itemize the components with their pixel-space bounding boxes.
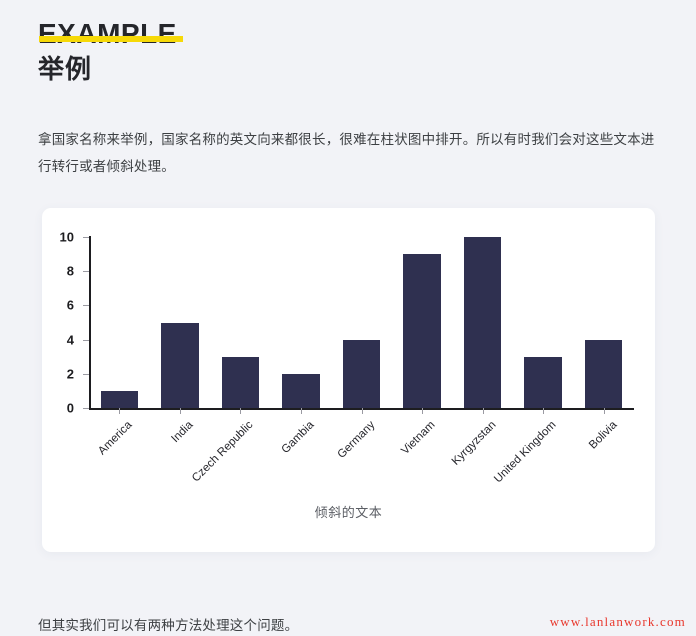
y-axis-tick: 2	[83, 374, 89, 375]
page-header: EXAMPLE 举例	[38, 20, 658, 85]
y-axis-tick: 4	[83, 340, 89, 341]
y-axis-line	[89, 236, 91, 409]
x-axis-tick	[180, 408, 181, 414]
site-watermark: www.lanlanwork.com	[550, 614, 686, 630]
chart-card: 0246810 AmericaIndiaCzech RepublicGambia…	[42, 208, 655, 552]
page-title-en: EXAMPLE	[38, 20, 177, 48]
bar	[464, 237, 502, 408]
bar	[282, 374, 320, 408]
y-axis-tick: 8	[83, 271, 89, 272]
x-axis-tick	[422, 408, 423, 414]
bar	[524, 357, 562, 408]
page-title-cn: 举例	[38, 55, 658, 85]
x-axis-tick	[604, 408, 605, 414]
bar	[343, 340, 381, 408]
intro-paragraph: 拿国家名称来举例，国家名称的英文向来都很长，很难在柱状图中排开。所以有时我们会对…	[38, 126, 660, 180]
bar	[222, 357, 260, 408]
y-axis-tick-label: 4	[67, 332, 74, 347]
y-axis-tick: 10	[83, 237, 89, 238]
y-axis-tick-label: 2	[67, 366, 74, 381]
bar	[101, 391, 139, 408]
x-axis-title: 倾斜的文本	[42, 502, 655, 521]
x-axis-tick	[240, 408, 241, 414]
y-axis-tick-label: 6	[67, 298, 74, 313]
x-axis-tick	[483, 408, 484, 414]
x-axis-tick	[301, 408, 302, 414]
bar	[161, 323, 199, 409]
y-axis-tick: 6	[83, 305, 89, 306]
bar-chart-plot-area: 0246810 AmericaIndiaCzech RepublicGambia…	[89, 237, 634, 408]
x-axis-tick	[543, 408, 544, 414]
y-axis-tick: 0	[83, 408, 89, 409]
bar	[403, 254, 441, 408]
title-highlight-strike	[39, 36, 183, 42]
outro-paragraph: 但其实我们可以有两种方法处理这个问题。	[38, 614, 298, 634]
y-axis-tick-label: 0	[67, 401, 74, 416]
y-axis-tick-label: 10	[60, 230, 74, 245]
x-axis-tick	[119, 408, 120, 414]
x-axis-tick	[362, 408, 363, 414]
title-en-wrapper: EXAMPLE	[38, 20, 177, 48]
y-axis-tick-label: 8	[67, 264, 74, 279]
bar	[585, 340, 623, 408]
